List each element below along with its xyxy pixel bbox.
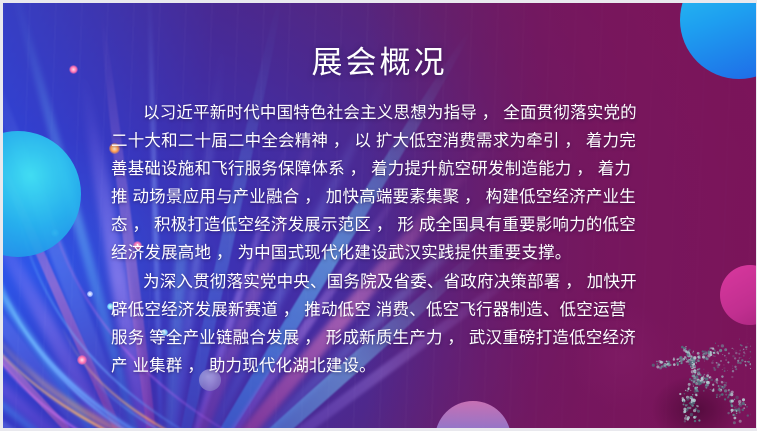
paragraph-line: 二十大和二十届二中全会精神 ， 以 扩大低空消费需求为牵引 ， 着力完 [111, 127, 647, 155]
paragraph-line: 为深入贯彻落实党中央、国务院及省委、省政府决策部署 ， 加快开 [111, 268, 647, 296]
paragraph-line: 辟低空经济发展新赛道 ， 推动低空 消费、低空飞行器制造、低空运营 [111, 296, 647, 324]
paragraph-line: 善基础设施和飞行服务保障体系 ， 着力提升航空研发制造能力 ， 着力 [111, 155, 647, 183]
slide-content: 展会概况 以习近平新时代中国特色社会主义思想为指导 ， 全面贯彻落实党的二十大和… [3, 3, 756, 428]
paragraph-line: 产 业集群 ， 助力现代化湖北建设。 [111, 352, 647, 380]
paragraph-2: 为深入贯彻落实党中央、国务院及省委、省政府决策部署 ， 加快开辟低空经济发展新赛… [111, 268, 647, 380]
presentation-slide: 展会概况 以习近平新时代中国特色社会主义思想为指导 ， 全面贯彻落实党的二十大和… [0, 0, 757, 431]
body-text: 以习近平新时代中国特色社会主义思想为指导 ， 全面贯彻落实党的二十大和二十届二中… [111, 99, 647, 380]
page-title: 展会概况 [3, 37, 756, 82]
paragraph-line: 态 ， 积极打造低空经济发展示范区 ， 形 成全国具有重要影响力的低空 [111, 211, 647, 239]
paragraph-line: 经济发展高地 ， 为中国式现代化建设武汉实践提供重要支撑。 [111, 239, 647, 267]
paragraph-line: 推 动场景应用与产业融合 ， 加快高端要素集聚 ， 构建低空经济产业生 [111, 183, 647, 211]
paragraph-1: 以习近平新时代中国特色社会主义思想为指导 ， 全面贯彻落实党的二十大和二十届二中… [111, 99, 647, 267]
paragraph-line: 服务 等全产业链融合发展 ， 形成新质生产力 ， 武汉重磅打造低空经济 [111, 324, 647, 352]
paragraph-line: 以习近平新时代中国特色社会主义思想为指导 ， 全面贯彻落实党的 [111, 99, 647, 127]
